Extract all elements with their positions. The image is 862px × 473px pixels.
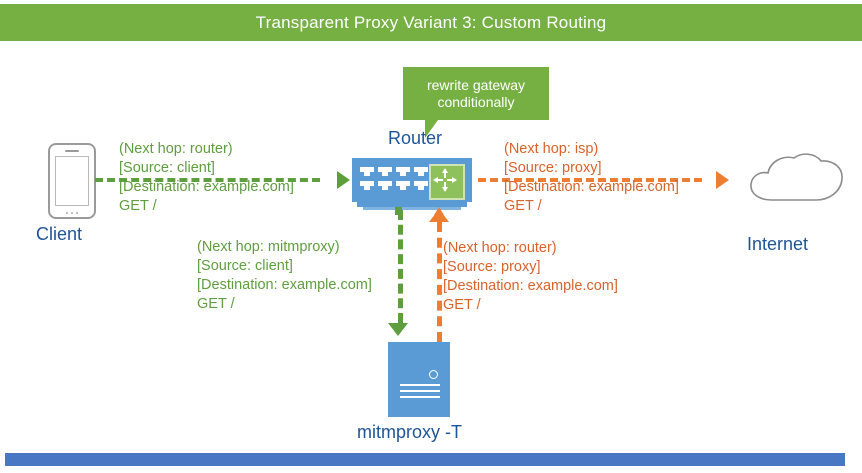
arrowhead-router-to-mitmproxy (388, 323, 408, 336)
cloud-icon (742, 148, 850, 214)
arrowhead-router-to-internet (716, 171, 729, 189)
router-ports (360, 167, 428, 193)
connector-router-to-mitmproxy (398, 210, 403, 323)
router-label: Router (388, 128, 442, 149)
flow-line: [Destination: example.com] (119, 178, 294, 197)
flow-line: GET / (119, 197, 294, 216)
internet-label: Internet (747, 234, 808, 255)
phone-screen (55, 156, 89, 206)
phone-home-dots (66, 212, 78, 214)
connector-mitmproxy-to-router (437, 222, 442, 342)
router-icon (352, 158, 472, 202)
server-indicator (429, 370, 438, 379)
client-label: Client (36, 224, 82, 245)
flow-line: (Next hop: mitmproxy) (197, 238, 372, 257)
flow-line: GET / (197, 295, 372, 314)
page-title: Transparent Proxy Variant 3: Custom Rout… (256, 13, 607, 33)
flow-label-router-to-mitmproxy: (Next hop: mitmproxy) [Source: client] [… (197, 238, 372, 314)
flow-line: (Next hop: router) (119, 140, 294, 159)
flow-line: GET / (443, 296, 618, 315)
flow-line: [Source: proxy] (443, 258, 618, 277)
mitmproxy-label: mitmproxy -T (357, 422, 462, 443)
flow-line: (Next hop: router) (443, 239, 618, 258)
footer-bar (5, 453, 845, 466)
callout-line-1: rewrite gateway (427, 77, 525, 93)
flow-line: [Source: client] (197, 257, 372, 276)
rewrite-gateway-callout: rewrite gateway conditionally (403, 67, 549, 120)
routing-arrows-icon (429, 164, 465, 200)
flow-line: [Source: proxy] (504, 159, 679, 178)
arrowhead-client-to-router (337, 171, 350, 189)
flow-line: [Source: client] (119, 159, 294, 178)
mobile-phone-icon (48, 143, 96, 219)
server-icon (388, 342, 450, 417)
phone-speaker (65, 150, 79, 152)
server-lines (400, 384, 440, 402)
flow-label-client-to-router: (Next hop: router) [Source: client] [Des… (119, 140, 294, 216)
flow-label-router-to-internet: (Next hop: isp) [Source: proxy] [Destina… (504, 140, 679, 216)
flow-line: [Destination: example.com] (197, 276, 372, 295)
flow-line: [Destination: example.com] (443, 277, 618, 296)
flow-line: GET / (504, 197, 679, 216)
callout-line-2: conditionally (437, 94, 514, 110)
arrowhead-mitmproxy-to-router (429, 209, 449, 222)
callout-text: rewrite gateway conditionally (421, 77, 531, 111)
flow-line: [Destination: example.com] (504, 178, 679, 197)
diagram-canvas: Transparent Proxy Variant 3: Custom Rout… (0, 0, 862, 473)
header-bar: Transparent Proxy Variant 3: Custom Rout… (0, 4, 862, 41)
flow-label-mitmproxy-to-router: (Next hop: router) [Source: proxy] [Dest… (443, 239, 618, 315)
flow-line: (Next hop: isp) (504, 140, 679, 159)
